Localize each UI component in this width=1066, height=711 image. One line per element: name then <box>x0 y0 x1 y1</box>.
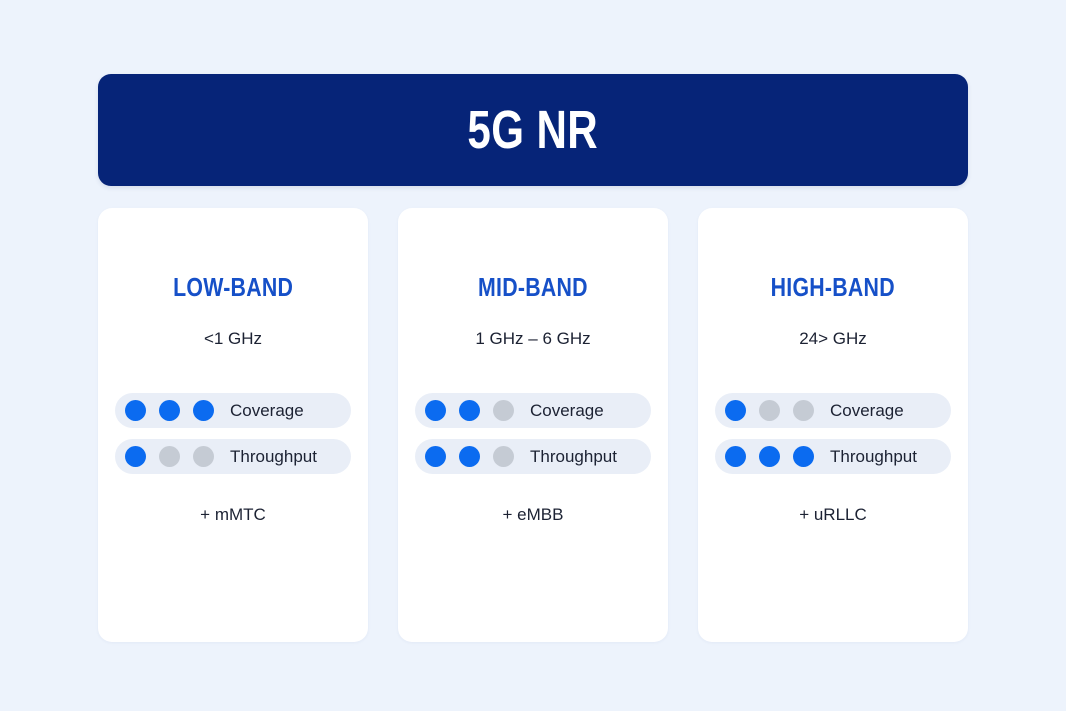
rating-dot-filled <box>459 446 480 467</box>
band-metrics: Coverage Throughput <box>115 393 351 485</box>
band-card-title: LOW-BAND <box>98 274 368 300</box>
metric-row-coverage[interactable]: Coverage <box>115 393 351 428</box>
metric-rating-dots <box>125 400 227 421</box>
band-use-case: + uRLLC <box>698 506 968 523</box>
rating-dot-filled <box>759 446 780 467</box>
rating-dot-filled <box>425 446 446 467</box>
rating-dot-filled <box>793 446 814 467</box>
band-use-case: + eMBB <box>398 506 668 523</box>
rating-dot-empty <box>493 400 514 421</box>
band-metrics: Coverage Throughput <box>715 393 951 485</box>
band-card-row: LOW-BAND <1 GHz Coverage <box>98 208 968 642</box>
rating-dot-empty <box>493 446 514 467</box>
metric-rating-dots <box>425 446 527 467</box>
band-frequency-range: 24> GHz <box>698 330 968 347</box>
band-frequency-range: <1 GHz <box>98 330 368 347</box>
metric-label: Coverage <box>530 402 604 419</box>
rating-dot-filled <box>159 400 180 421</box>
metric-row-coverage[interactable]: Coverage <box>715 393 951 428</box>
metric-rating-dots <box>125 446 227 467</box>
rating-dot-filled <box>125 400 146 421</box>
rating-dot-empty <box>193 446 214 467</box>
metric-rating-dots <box>725 446 827 467</box>
metric-label: Throughput <box>830 448 917 465</box>
rating-dot-empty <box>793 400 814 421</box>
page-root: 5G NR LOW-BAND <1 GHz Coverage <box>0 0 1066 711</box>
rating-dot-filled <box>725 446 746 467</box>
metric-rating-dots <box>425 400 527 421</box>
band-metrics: Coverage Throughput <box>415 393 651 485</box>
metric-row-throughput[interactable]: Throughput <box>115 439 351 474</box>
metric-label: Throughput <box>230 448 317 465</box>
metric-label: Throughput <box>530 448 617 465</box>
page-title: 5G NR <box>468 103 599 157</box>
metric-label: Coverage <box>230 402 304 419</box>
header-banner: 5G NR <box>98 74 968 186</box>
band-card-high[interactable]: HIGH-BAND 24> GHz Coverage <box>698 208 968 642</box>
rating-dot-filled <box>193 400 214 421</box>
band-frequency-range: 1 GHz – 6 GHz <box>398 330 668 347</box>
rating-dot-filled <box>425 400 446 421</box>
rating-dot-empty <box>759 400 780 421</box>
metric-rating-dots <box>725 400 827 421</box>
rating-dot-empty <box>159 446 180 467</box>
band-card-low[interactable]: LOW-BAND <1 GHz Coverage <box>98 208 368 642</box>
band-use-case: + mMTC <box>98 506 368 523</box>
metric-row-throughput[interactable]: Throughput <box>415 439 651 474</box>
band-card-mid[interactable]: MID-BAND 1 GHz – 6 GHz Coverage <box>398 208 668 642</box>
band-card-title: HIGH-BAND <box>698 274 968 300</box>
rating-dot-filled <box>125 446 146 467</box>
rating-dot-filled <box>725 400 746 421</box>
metric-row-coverage[interactable]: Coverage <box>415 393 651 428</box>
band-card-title: MID-BAND <box>398 274 668 300</box>
metric-row-throughput[interactable]: Throughput <box>715 439 951 474</box>
rating-dot-filled <box>459 400 480 421</box>
metric-label: Coverage <box>830 402 904 419</box>
